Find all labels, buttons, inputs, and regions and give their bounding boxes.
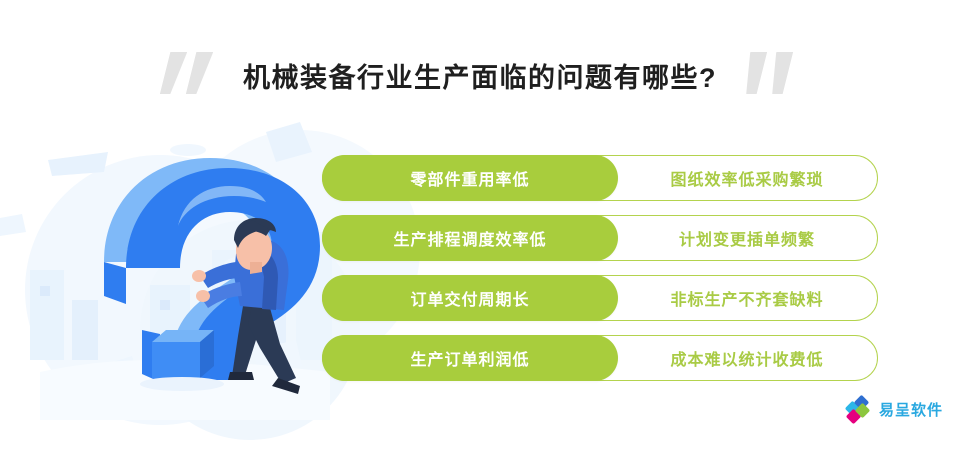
title-row: 机械装备行业生产面临的问题有哪些? [0,40,960,110]
problem-list: 图纸效率低采购繁琐 零部件重用率低 计划变更插单频繁 生产排程调度效率低 非标生… [322,155,878,395]
problem-detail: 计划变更插单频繁 [616,215,878,261]
problem-label[interactable]: 订单交付周期长 [322,275,618,321]
close-quote-icon [739,52,801,98]
problem-detail: 成本难以统计收费低 [616,335,878,381]
problem-label[interactable]: 零部件重用率低 [322,155,618,201]
open-quote-icon [159,52,221,98]
list-item[interactable]: 计划变更插单频繁 生产排程调度效率低 [322,215,878,261]
list-item[interactable]: 非标生产不齐套缺料 订单交付周期长 [322,275,878,321]
poster-canvas: 机械装备行业生产面临的问题有哪些? 图纸效率低采购繁琐 零部件重用率低 计划变更… [0,0,960,457]
problem-label[interactable]: 生产排程调度效率低 [322,215,618,261]
list-item[interactable]: 成本难以统计收费低 生产订单利润低 [322,335,878,381]
problem-detail: 非标生产不齐套缺料 [616,275,878,321]
pinwheel-logo-icon [846,396,873,423]
brand-logo[interactable]: 易呈软件 [846,396,943,423]
brand-name: 易呈软件 [879,399,943,420]
page-title: 机械装备行业生产面临的问题有哪些? [221,56,739,95]
problem-detail: 图纸效率低采购繁琐 [616,155,878,201]
problem-label[interactable]: 生产订单利润低 [322,335,618,381]
list-item[interactable]: 图纸效率低采购繁琐 零部件重用率低 [322,155,878,201]
